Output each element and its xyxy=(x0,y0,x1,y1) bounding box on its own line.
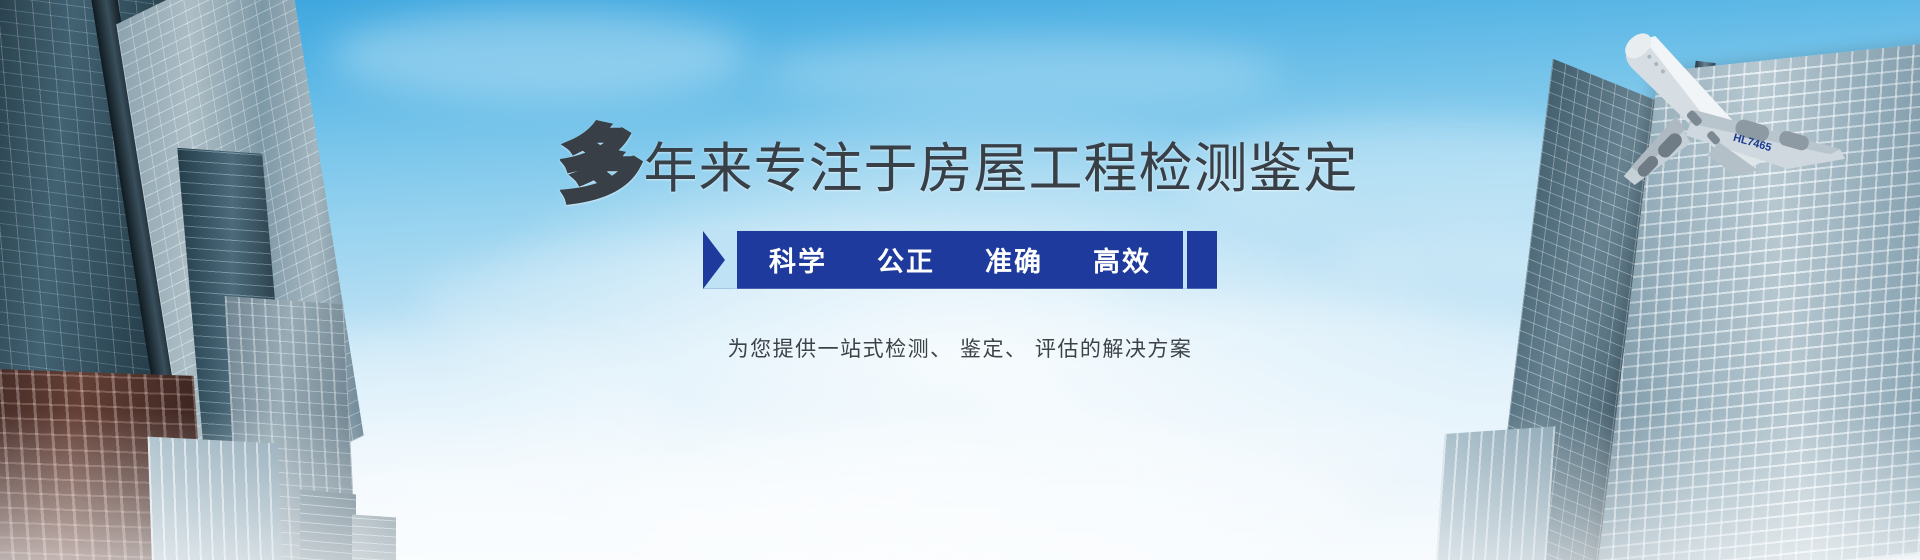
hero-content: 多 年来专注于房屋工程检测鉴定 科学 公正 准确 高效 为您提供一站式检测、 鉴 xyxy=(0,0,1920,560)
ribbon-word-2: 公正 xyxy=(877,240,935,279)
value-ribbon: 科学 公正 准确 高效 xyxy=(703,231,1217,289)
headline-lead-character: 多 xyxy=(562,132,642,201)
page-subtitle: 为您提供一站式检测、 鉴定、 评估的解决方案 xyxy=(728,333,1193,363)
ribbon-word-list: 科学 公正 准确 高效 xyxy=(769,240,1151,279)
headline-text: 年来专注于房屋工程检测鉴定 xyxy=(644,141,1359,197)
page-title: 多 年来专注于房屋工程检测鉴定 xyxy=(562,128,1359,197)
ribbon-word-3: 准确 xyxy=(985,240,1043,279)
ribbon-left-notch-icon xyxy=(703,231,737,289)
hero-banner: HL7465 多 年来专注于房屋工程检测鉴定 科学 公正 xyxy=(0,0,1920,560)
ribbon-word-1: 科学 xyxy=(769,240,827,279)
ribbon-word-4: 高效 xyxy=(1093,240,1151,279)
ribbon-right-notch-icon xyxy=(1183,231,1217,289)
